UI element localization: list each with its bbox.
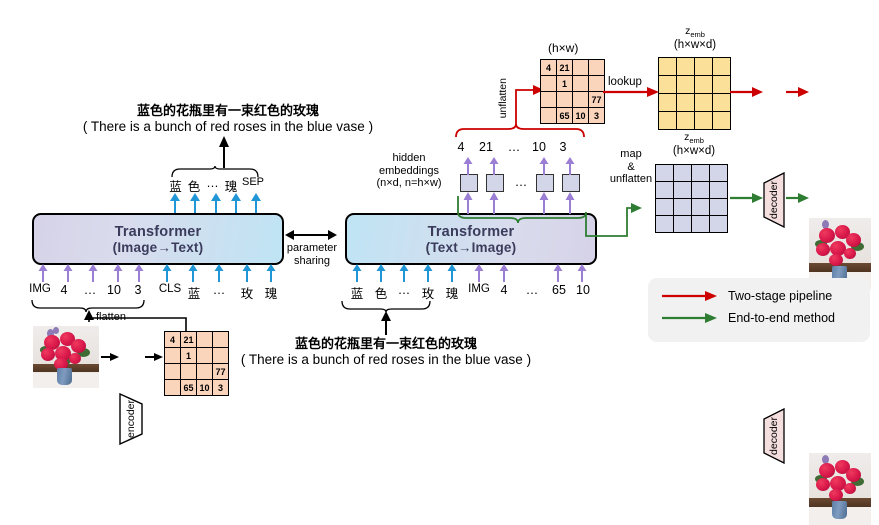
photo-rose-1 <box>819 463 835 478</box>
left-input-image-token-2: … <box>80 283 100 297</box>
legend-line-end-to-end <box>662 312 718 324</box>
yellow-grid-to-decoder-arrow <box>730 86 764 98</box>
photo-rose-1 <box>819 228 835 243</box>
grid-cell <box>213 348 229 364</box>
encoder-label: encoder <box>125 400 137 438</box>
left-input-text-token-3: 玫 <box>238 283 256 302</box>
zemb-bottom-dims: (h×w×d) <box>650 145 738 158</box>
grid-cell <box>656 199 674 216</box>
transformer-left-subtitle: (Image→Text) <box>113 240 204 255</box>
table-row: 1 <box>541 76 605 92</box>
grid-cell <box>695 58 713 76</box>
predicted-token-1: 21 <box>475 140 497 154</box>
grid-cell <box>165 380 181 396</box>
right-caption-chinese: 蓝色的花瓶里有一束红色的玫瑰 <box>236 333 536 352</box>
grid-cell <box>677 58 695 76</box>
left-input-image-token-4: 3 <box>130 283 146 297</box>
right-caption-up-arrow <box>378 311 394 335</box>
left-input-text-token-4: 瑰 <box>262 283 280 302</box>
grid-cell <box>674 182 692 199</box>
right-input-text-token-3: 玫 <box>419 283 437 302</box>
left-caption-block: 蓝色的花瓶里有一束红色的玫瑰 ( There is a bunch of red… <box>78 100 378 134</box>
predicted-token-0: 4 <box>452 140 470 154</box>
zemb-yellow-grid <box>658 57 731 130</box>
hidden-embeddings-line1: hidden <box>370 152 448 165</box>
grid-cell: 3 <box>213 380 229 396</box>
grid-cell <box>674 216 692 233</box>
grid-cell <box>713 76 731 94</box>
output-photo-end-to-end <box>809 453 871 525</box>
table-row <box>659 76 731 94</box>
grid-cell: 65 <box>181 380 197 396</box>
grid-cell: 65 <box>557 108 573 124</box>
photo-rose-4 <box>816 478 830 491</box>
legend-line-two-stage <box>662 290 718 302</box>
grid-cell <box>656 216 674 233</box>
hidden-embeddings-label: hidden embeddings (n×d, n=h×w) <box>370 152 448 190</box>
grid-cell <box>197 364 213 380</box>
grid-cell <box>181 364 197 380</box>
photo-rose-3 <box>846 468 861 482</box>
photo-rose-4 <box>41 348 55 361</box>
photo-rose-6 <box>844 248 856 259</box>
source-code-grid: 4 21 1 77 65 10 3 <box>164 331 229 396</box>
caption-up-arrow <box>214 136 234 168</box>
grid-cell <box>710 182 728 199</box>
grid-cell <box>659 76 677 94</box>
right-input-text-arrows <box>350 264 470 282</box>
table-row: 77 <box>165 364 229 380</box>
grid-cell <box>677 112 695 130</box>
left-input-text-token-0: CLS <box>154 283 186 295</box>
grid-cell <box>541 76 557 92</box>
parameter-sharing-arrow <box>285 228 337 242</box>
left-output-arrows <box>168 193 268 213</box>
zemb-bottom-sub: emb <box>689 136 704 145</box>
photo-lilac-2 <box>53 327 59 334</box>
table-row: 4 21 <box>541 60 605 76</box>
hidden-embedding-ellipsis: … <box>512 175 530 189</box>
legend-box: Two-stage pipeline End-to-end method <box>648 278 870 342</box>
legend-item-two-stage: Two-stage pipeline <box>662 289 870 303</box>
table-row <box>656 216 728 233</box>
grid-cell <box>692 182 710 199</box>
grid-cell <box>692 216 710 233</box>
source-image-photo <box>33 326 99 388</box>
photo-rose-7 <box>829 254 843 266</box>
grid-cell: 10 <box>197 380 213 396</box>
grid-cell <box>677 94 695 112</box>
grid-cell: 1 <box>557 76 573 92</box>
left-caption-english: ( There is a bunch of red roses in the b… <box>78 119 378 134</box>
right-input-image-token-3: 65 <box>548 283 570 297</box>
legend-label-two-stage: Two-stage pipeline <box>728 289 832 303</box>
grid-cell <box>573 92 589 108</box>
right-input-image-token-2: … <box>522 283 542 297</box>
zemb-top-label: zemb (h×w×d) <box>655 25 735 52</box>
grid-cell: 77 <box>213 364 229 380</box>
grid-cell <box>557 92 573 108</box>
grid-cell <box>659 58 677 76</box>
grid-cell <box>710 216 728 233</box>
zemb-blue-grid <box>655 164 728 233</box>
grid-cell: 4 <box>541 60 557 76</box>
zemb-bottom-symbol: zemb <box>650 131 738 145</box>
grid-cell <box>213 332 229 348</box>
left-input-text-token-2: … <box>210 283 228 297</box>
unflatten-label: unflatten <box>497 78 509 118</box>
right-input-text-token-2: … <box>395 283 413 297</box>
decoder-top-label: decoder <box>768 181 780 219</box>
table-row <box>656 182 728 199</box>
hidden-embeddings-line3: (n×d, n=h×w) <box>370 177 448 190</box>
legend-item-end-to-end: End-to-end method <box>662 311 870 325</box>
photo-rose-3 <box>846 233 861 247</box>
table-row: 77 <box>541 92 605 108</box>
grid-cell <box>692 165 710 182</box>
parameter-sharing-line2: sharing <box>283 255 341 268</box>
map-unflatten-line3: unflatten <box>600 173 662 186</box>
decoder-bottom-trapezoid[interactable]: decoder <box>763 408 785 464</box>
transformer-image-to-text[interactable]: Transformer (Image→Text) <box>32 213 284 265</box>
end-to-end-green-path <box>452 190 642 242</box>
grid-cell <box>659 112 677 130</box>
photo-vase <box>57 368 72 385</box>
predicted-token-4: 3 <box>554 140 572 154</box>
grid-cell: 21 <box>557 60 573 76</box>
grid-cell <box>695 76 713 94</box>
grid-cell <box>589 60 605 76</box>
lookup-arrow <box>603 86 661 98</box>
decoder-top-trapezoid[interactable]: decoder <box>763 172 785 228</box>
left-input-image-token-0: IMG <box>22 283 58 295</box>
photo-rose-3 <box>71 339 86 353</box>
grid-cell <box>695 112 713 130</box>
grid-cell <box>656 165 674 182</box>
hidden-to-tokens-arrows <box>460 157 582 175</box>
predicted-token-3: 10 <box>528 140 550 154</box>
grid-cell <box>713 94 731 112</box>
left-input-image-token-1: 4 <box>54 283 74 297</box>
left-input-image-arrows <box>36 264 146 282</box>
photo-rose-7 <box>829 489 843 501</box>
transformer-left-title: Transformer <box>115 224 202 240</box>
grid-cell <box>165 364 181 380</box>
zemb-top-dims: (h×w×d) <box>655 39 735 52</box>
grid-cell <box>541 108 557 124</box>
left-caption-chinese: 蓝色的花瓶里有一束红色的玫瑰 <box>78 100 378 119</box>
zemb-bottom-label: zemb (h×w×d) <box>650 131 738 158</box>
right-input-text-token-4: 瑰 <box>443 283 461 302</box>
grid-cell: 1 <box>181 348 197 364</box>
grid-cell: 3 <box>589 108 605 124</box>
left-input-text-token-1: 蓝 <box>185 283 203 302</box>
hidden-embeddings-line2: embeddings <box>370 165 448 178</box>
table-row <box>656 199 728 216</box>
grid-cell: 21 <box>181 332 197 348</box>
zemb-top-sub: emb <box>690 30 705 39</box>
table-row <box>659 58 731 76</box>
left-input-image-token-3: 10 <box>102 283 126 297</box>
right-input-image-token-0: IMG <box>462 283 496 295</box>
grid-cell <box>713 112 731 130</box>
predicted-code-grid: 4 21 1 77 65 10 3 <box>540 59 605 124</box>
grid-cell <box>197 332 213 348</box>
grid-cell <box>573 76 589 92</box>
grid-cell: 4 <box>165 332 181 348</box>
grid-cell <box>677 76 695 94</box>
table-row: 65 10 3 <box>541 108 605 124</box>
legend-label-end-to-end: End-to-end method <box>728 311 835 325</box>
encoder-trapezoid[interactable]: encoder <box>119 393 143 445</box>
right-caption-block: 蓝色的花瓶里有一束红色的玫瑰 ( There is a bunch of red… <box>236 333 536 367</box>
grid-cell: 10 <box>573 108 589 124</box>
right-input-text-token-1: 色 <box>372 283 390 302</box>
grid-cell <box>541 92 557 108</box>
grid-cell <box>573 60 589 76</box>
grid-cell <box>197 348 213 364</box>
parameter-sharing-label: parameter sharing <box>283 242 341 267</box>
photo-rose-4 <box>816 243 830 256</box>
photo-rose-6 <box>69 353 81 364</box>
predicted-token-2: … <box>504 140 524 154</box>
zemb-top-symbol: zemb <box>655 25 735 39</box>
grid-cell <box>710 199 728 216</box>
decoder-bottom-label: decoder <box>768 417 780 455</box>
hw-label: (h×w) <box>548 42 578 56</box>
grid-cell <box>656 182 674 199</box>
table-row <box>656 165 728 182</box>
photo-vase <box>832 501 847 519</box>
grid-cell <box>165 348 181 364</box>
grid-cell <box>674 199 692 216</box>
encoder-to-grid-arrow <box>145 352 163 362</box>
grid-cell <box>695 94 713 112</box>
table-row: 1 <box>165 348 229 364</box>
right-input-image-token-4: 10 <box>572 283 594 297</box>
blue-grid-to-decoder-arrow <box>730 192 764 204</box>
right-caption-english: ( There is a bunch of red roses in the b… <box>236 352 536 367</box>
parameter-sharing-line1: parameter <box>283 242 341 255</box>
right-input-text-token-0: 蓝 <box>348 283 366 302</box>
left-input-text-arrows <box>160 264 278 282</box>
right-input-image-arrows <box>472 264 587 282</box>
map-unflatten-line2: & <box>600 161 662 174</box>
grid-cell <box>674 165 692 182</box>
grid-cell <box>659 94 677 112</box>
grid-cell <box>713 58 731 76</box>
grid-cell <box>710 165 728 182</box>
photo-to-encoder-arrow <box>101 352 119 362</box>
decoder-top-to-photo-arrow <box>786 86 810 98</box>
table-row <box>659 112 731 130</box>
table-row: 4 21 <box>165 332 229 348</box>
photo-rose-6 <box>844 483 856 494</box>
table-row: 65 10 3 <box>165 380 229 396</box>
table-row <box>659 94 731 112</box>
grid-cell <box>692 199 710 216</box>
decoder-bottom-to-photo-arrow <box>786 192 810 204</box>
right-input-image-token-1: 4 <box>494 283 514 297</box>
